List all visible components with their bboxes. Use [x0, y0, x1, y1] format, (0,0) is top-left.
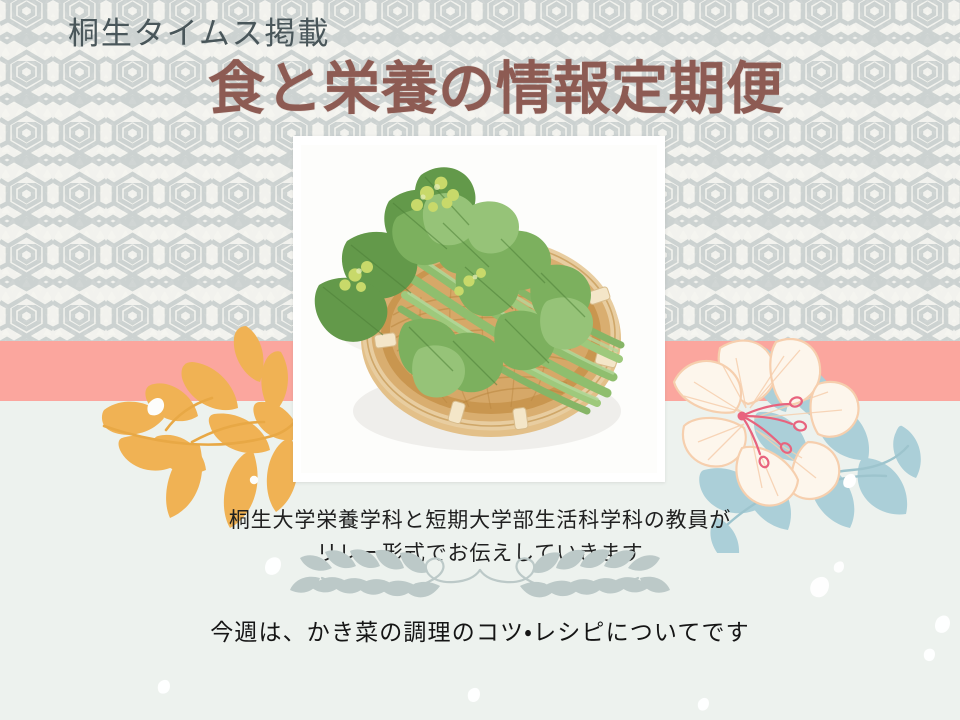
slide-canvas: 桐生タイムス掲載 食と栄養の情報定期便 桐生大学栄養学科と短期大学部生活科学科の…	[0, 0, 960, 720]
photo-frame	[293, 136, 665, 482]
lead-line-2: リレー形式でお伝えしていきます	[0, 538, 960, 571]
lead-description: 桐生大学栄養学科と短期大学部生活科学科の教員が リレー形式でお伝えしていきます	[0, 505, 960, 570]
page-title: 食と栄養の情報定期便	[208, 58, 784, 122]
lead-line-1: 桐生大学栄養学科と短期大学部生活科学科の教員が	[0, 505, 960, 538]
kakina-basket-photo	[301, 145, 657, 473]
publication-note: 桐生タイムス掲載	[68, 16, 330, 52]
weekly-topic: 今週は、かき菜の調理のコツ・レシピについてです	[0, 616, 960, 648]
